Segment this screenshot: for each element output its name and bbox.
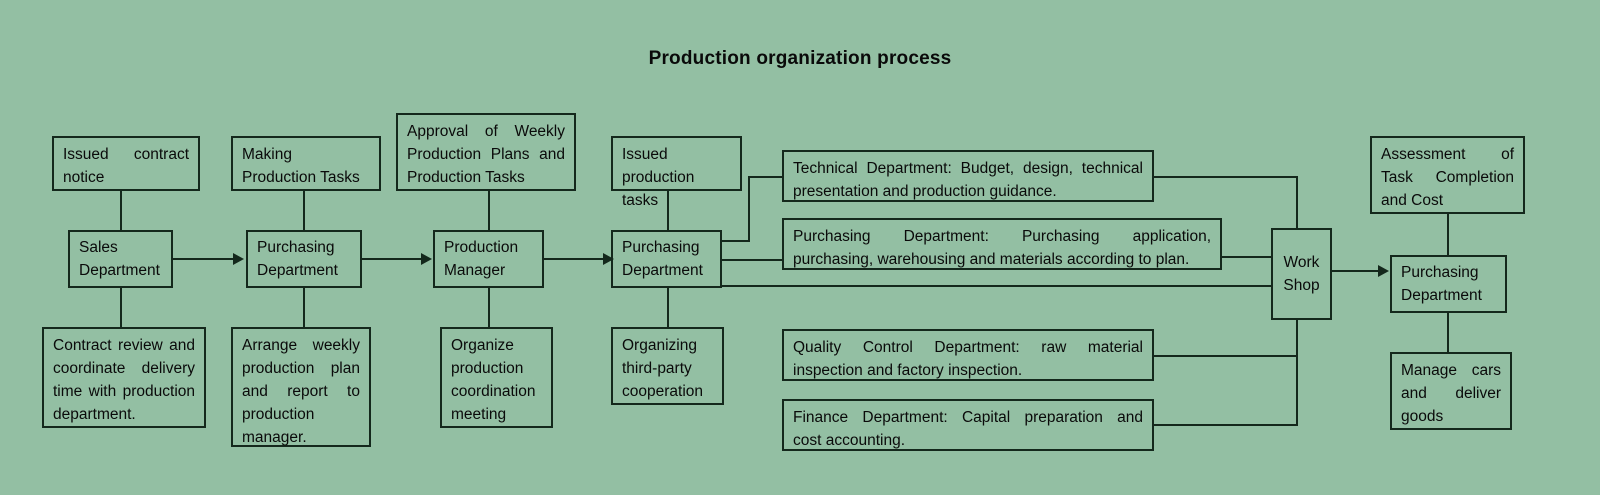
connector-purchasing4-to-workshop bbox=[722, 285, 1271, 287]
node-line: third-party bbox=[622, 357, 713, 380]
node-line: Finance Department: Capital preparation … bbox=[793, 406, 1143, 429]
node-quality-control-department: Quality Control Department: raw material… bbox=[782, 329, 1154, 381]
arrow-workshop-to-purchasing7 bbox=[1378, 265, 1389, 277]
node-line: Production bbox=[444, 236, 518, 259]
node-line: Organize bbox=[451, 334, 542, 357]
node-line: Department bbox=[79, 259, 160, 282]
node-issued-production-tasks: Issued production tasks bbox=[611, 136, 742, 191]
node-line: Contract review and bbox=[53, 334, 195, 357]
node-purchasing-department-desc: Purchasing Department: Purchasing applic… bbox=[782, 218, 1222, 270]
node-production-manager: Production Manager bbox=[433, 230, 544, 288]
node-line: purchasing, warehousing and materials ac… bbox=[793, 248, 1211, 271]
node-line: production tasks bbox=[622, 166, 731, 212]
node-line: Manager bbox=[444, 259, 505, 282]
node-line: Department bbox=[1401, 284, 1482, 307]
connector-manager-to-purchasing4 bbox=[544, 258, 606, 260]
connector-approval-to-manager bbox=[488, 191, 490, 230]
node-line: Approval of Weekly bbox=[407, 120, 565, 143]
node-line: Sales bbox=[79, 236, 118, 259]
node-line: Purchasing bbox=[1401, 261, 1479, 284]
node-line: manager. bbox=[242, 426, 360, 449]
node-arrange-weekly-plan: Arrange weekly production plan and repor… bbox=[231, 327, 371, 447]
diagram-canvas: Production organization process Issued c… bbox=[0, 0, 1600, 495]
connector-issuedtasks-to-purchasing4 bbox=[667, 191, 669, 230]
arrow-purchasing2-to-manager bbox=[421, 253, 432, 265]
connector-quality-to-workshop bbox=[1154, 355, 1298, 357]
node-organize-coordination-meeting: Organize production coordination meeting bbox=[440, 327, 553, 428]
connector-purchasingdesc-to-workshop bbox=[1222, 256, 1271, 258]
connector-notice-to-sales bbox=[120, 191, 122, 230]
connector-technical-to-workshop-vert bbox=[1296, 176, 1298, 228]
node-line: inspection and factory inspection. bbox=[793, 359, 1143, 382]
node-line: cost accounting. bbox=[793, 429, 1143, 452]
node-line: cooperation bbox=[622, 380, 713, 403]
node-line: production bbox=[242, 403, 360, 426]
node-contract-review: Contract review and coordinate delivery … bbox=[42, 327, 206, 428]
node-organizing-third-party: Organizing third-party cooperation bbox=[611, 327, 724, 405]
node-line: Making bbox=[242, 143, 370, 166]
node-making-production-tasks: Making Production Tasks bbox=[231, 136, 381, 191]
node-line: department. bbox=[53, 403, 195, 426]
connector-sales-to-review bbox=[120, 288, 122, 327]
node-line: Production Plans and bbox=[407, 143, 565, 166]
node-work-shop: Work Shop bbox=[1271, 228, 1332, 320]
node-line: Department bbox=[622, 259, 703, 282]
node-line: production plan bbox=[242, 357, 360, 380]
node-line: Organizing bbox=[622, 334, 713, 357]
connector-purchasing4-branch-a bbox=[722, 240, 750, 242]
node-purchasing-department-2: Purchasing Department bbox=[246, 230, 362, 288]
node-line: Department bbox=[257, 259, 338, 282]
node-line: Purchasing bbox=[622, 236, 700, 259]
connector-purchasing4-to-purchasing-desc bbox=[722, 259, 784, 261]
node-line: production bbox=[451, 357, 542, 380]
node-issued-contract-notice: Issued contract notice bbox=[52, 136, 200, 191]
connector-workshop-to-purchasing7 bbox=[1332, 270, 1380, 272]
node-line: and deliver bbox=[1401, 382, 1501, 405]
node-line: Issued contract bbox=[63, 143, 189, 166]
connector-making-to-purchasing2 bbox=[303, 191, 305, 230]
connector-purchasing7-to-managecars bbox=[1447, 313, 1449, 352]
node-purchasing-department-4: Purchasing Department bbox=[611, 230, 722, 288]
connector-finance-to-workshop-vert bbox=[1296, 320, 1298, 426]
node-line: presentation and production guidance. bbox=[793, 180, 1143, 203]
page-title: Production organization process bbox=[0, 48, 1600, 70]
node-line: coordinate delivery bbox=[53, 357, 195, 380]
node-line: notice bbox=[63, 166, 189, 189]
connector-manager-to-meeting bbox=[488, 288, 490, 327]
node-line: Production Tasks bbox=[407, 166, 565, 189]
node-line: Purchasing bbox=[257, 236, 335, 259]
node-line: Arrange weekly bbox=[242, 334, 360, 357]
connector-branch-a-to-technical bbox=[748, 176, 784, 178]
node-line: time with production bbox=[53, 380, 195, 403]
node-finance-department: Finance Department: Capital preparation … bbox=[782, 399, 1154, 451]
node-line: meeting bbox=[451, 403, 542, 426]
node-sales-department: Sales Department bbox=[68, 230, 173, 288]
node-line: Assessment of bbox=[1381, 143, 1514, 166]
connector-purchasing2-to-manager bbox=[362, 258, 424, 260]
connector-sales-to-purchasing2 bbox=[173, 258, 235, 260]
node-line: Task Completion bbox=[1381, 166, 1514, 189]
connector-purchasing4-to-thirdparty bbox=[667, 288, 669, 327]
node-line: Production Tasks bbox=[242, 166, 370, 189]
connector-technical-to-workshop bbox=[1154, 176, 1298, 178]
arrow-sales-to-purchasing2 bbox=[233, 253, 244, 265]
connector-purchasing4-branch-a-vert bbox=[748, 176, 750, 242]
node-line: Issued bbox=[622, 143, 731, 166]
node-line: and report to bbox=[242, 380, 360, 403]
node-line: and Cost bbox=[1381, 189, 1514, 212]
node-assessment-task-completion: Assessment of Task Completion and Cost bbox=[1370, 136, 1525, 214]
node-line: goods bbox=[1401, 405, 1501, 428]
node-manage-cars-deliver-goods: Manage cars and deliver goods bbox=[1390, 352, 1512, 430]
node-technical-department: Technical Department: Budget, design, te… bbox=[782, 150, 1154, 202]
connector-purchasing2-to-arrange bbox=[303, 288, 305, 327]
node-line: Technical Department: Budget, design, te… bbox=[793, 157, 1143, 180]
connector-assessment-to-purchasing7 bbox=[1447, 214, 1449, 255]
node-approval-weekly-plans: Approval of Weekly Production Plans and … bbox=[396, 113, 576, 191]
node-purchasing-department-7: Purchasing Department bbox=[1390, 255, 1507, 313]
node-line: coordination bbox=[451, 380, 542, 403]
node-line: Work bbox=[1284, 251, 1320, 274]
node-line: Purchasing Department: Purchasing applic… bbox=[793, 225, 1211, 248]
node-line: Quality Control Department: raw material bbox=[793, 336, 1143, 359]
node-line: Shop bbox=[1283, 274, 1319, 297]
connector-finance-to-workshop bbox=[1154, 424, 1298, 426]
node-line: Manage cars bbox=[1401, 359, 1501, 382]
